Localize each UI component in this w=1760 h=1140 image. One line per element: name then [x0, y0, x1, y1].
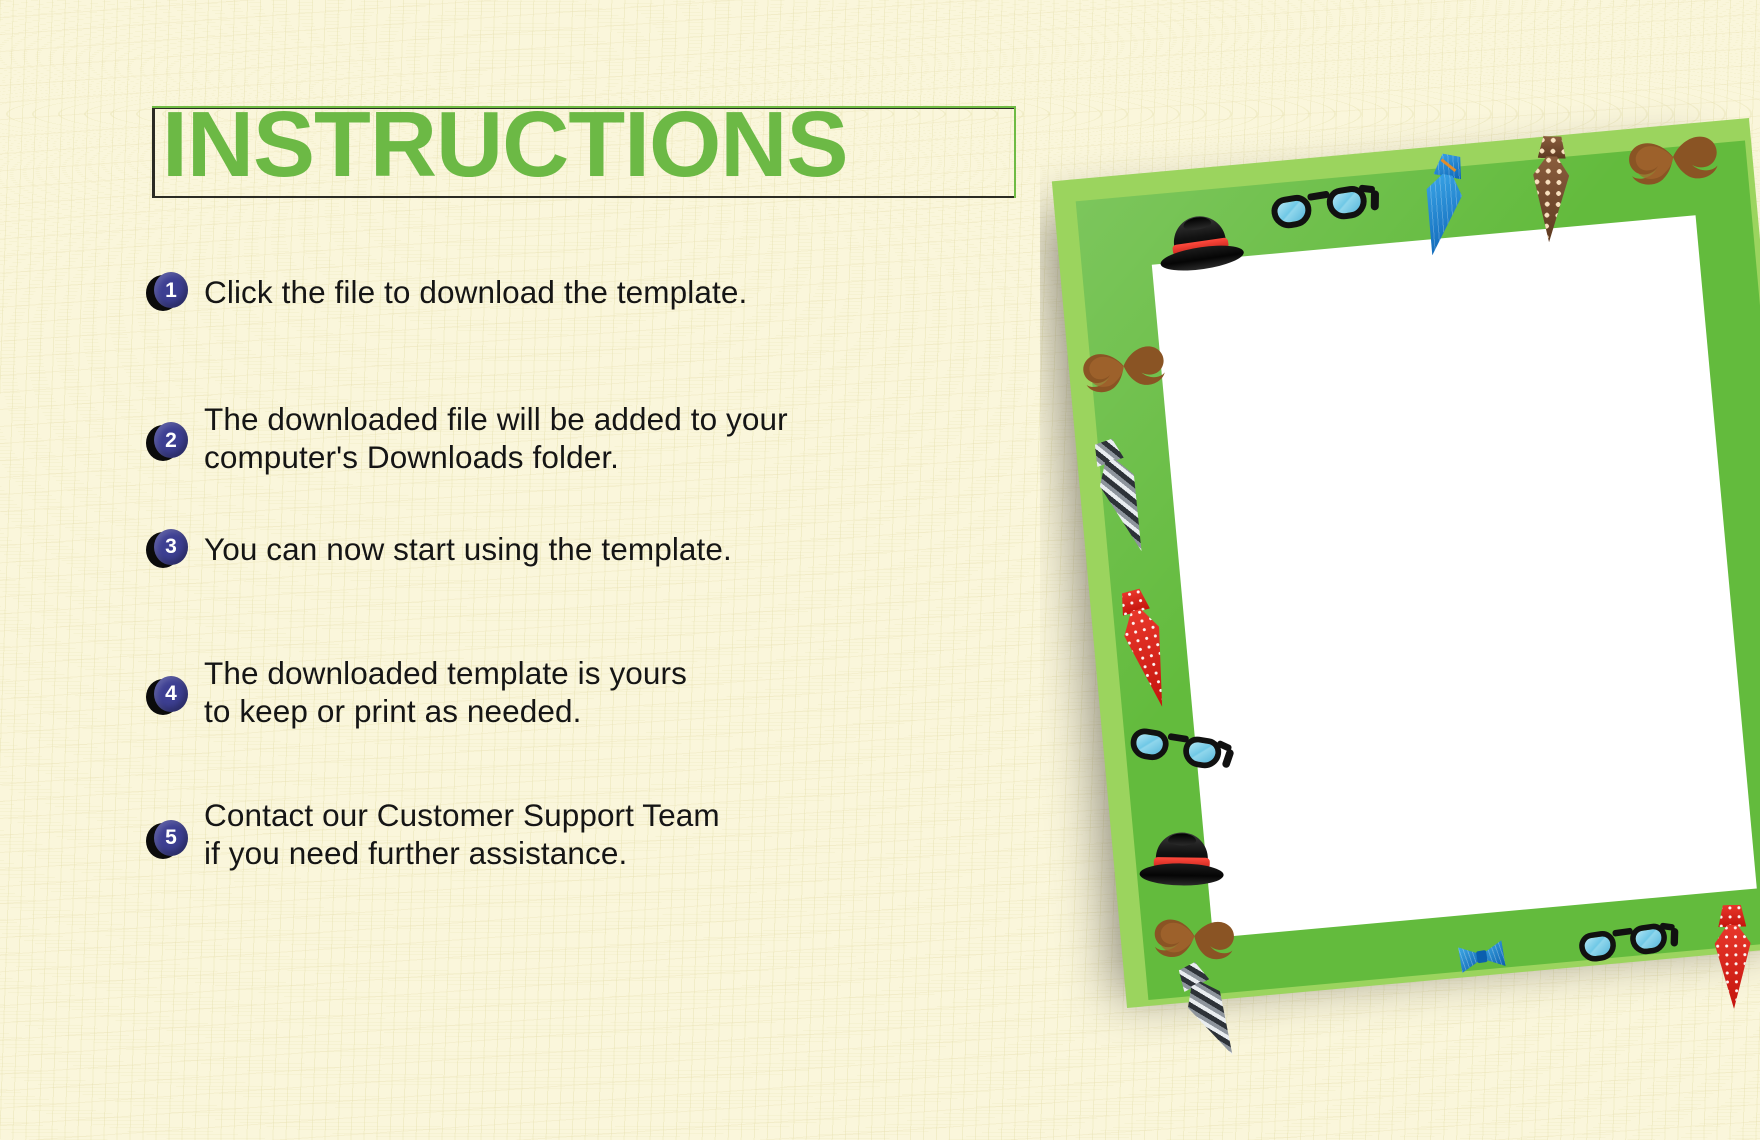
lens-left — [1128, 727, 1170, 763]
glasses-temple-arm — [1670, 928, 1678, 947]
list-item: 2 The downloaded file will be added to y… — [150, 399, 910, 477]
fedora-hat-icon — [1139, 832, 1224, 887]
step-number-badge: 5 — [150, 820, 186, 856]
badge-disc: 2 — [154, 422, 188, 458]
list-item: 4 The downloaded template is yours to ke… — [150, 653, 910, 731]
tie-blade — [1714, 925, 1752, 1010]
necktie-polkadot-icon — [1712, 904, 1754, 1009]
badge-disc: 4 — [154, 676, 188, 712]
mustache-shape — [1149, 914, 1239, 965]
hipster-photo-frame-artwork — [1040, 60, 1760, 1060]
frame-body — [1052, 118, 1760, 1008]
badge-disc: 5 — [154, 820, 188, 856]
tie-blade — [1531, 156, 1570, 243]
list-item: 5 Contact our Customer Support Team if y… — [150, 795, 910, 873]
lens-right — [1181, 735, 1223, 771]
list-item: 3 You can now start using the template. — [150, 529, 910, 589]
step-text: The downloaded template is yours to keep… — [204, 653, 687, 731]
step-number-badge: 2 — [150, 422, 186, 458]
step-text: Click the file to download the template. — [204, 272, 747, 311]
hat-brim — [1139, 863, 1223, 886]
step-number-badge: 4 — [150, 676, 186, 712]
instructions-list: 1 Click the file to download the templat… — [150, 272, 910, 873]
tie-knot — [1538, 136, 1567, 159]
photo-area — [1152, 215, 1757, 938]
necktie-checkered-icon — [1529, 136, 1572, 245]
step-number-badge: 3 — [150, 529, 186, 565]
glasses-temple-arm — [1371, 190, 1379, 210]
hat-dent — [1168, 833, 1196, 845]
page-title: INSTRUCTIONS — [162, 98, 848, 191]
step-text: You can now start using the template. — [204, 529, 732, 568]
bowtie-knot — [1476, 950, 1488, 963]
mustache-icon — [1149, 914, 1239, 965]
tie-knot — [1718, 905, 1746, 928]
step-text: Contact our Customer Support Team if you… — [204, 795, 720, 873]
list-item: 1 Click the file to download the templat… — [150, 272, 910, 332]
badge-disc: 1 — [154, 272, 188, 308]
step-number-badge: 1 — [150, 272, 186, 308]
step-text: The downloaded file will be added to you… — [204, 399, 788, 477]
badge-disc: 3 — [154, 529, 188, 565]
